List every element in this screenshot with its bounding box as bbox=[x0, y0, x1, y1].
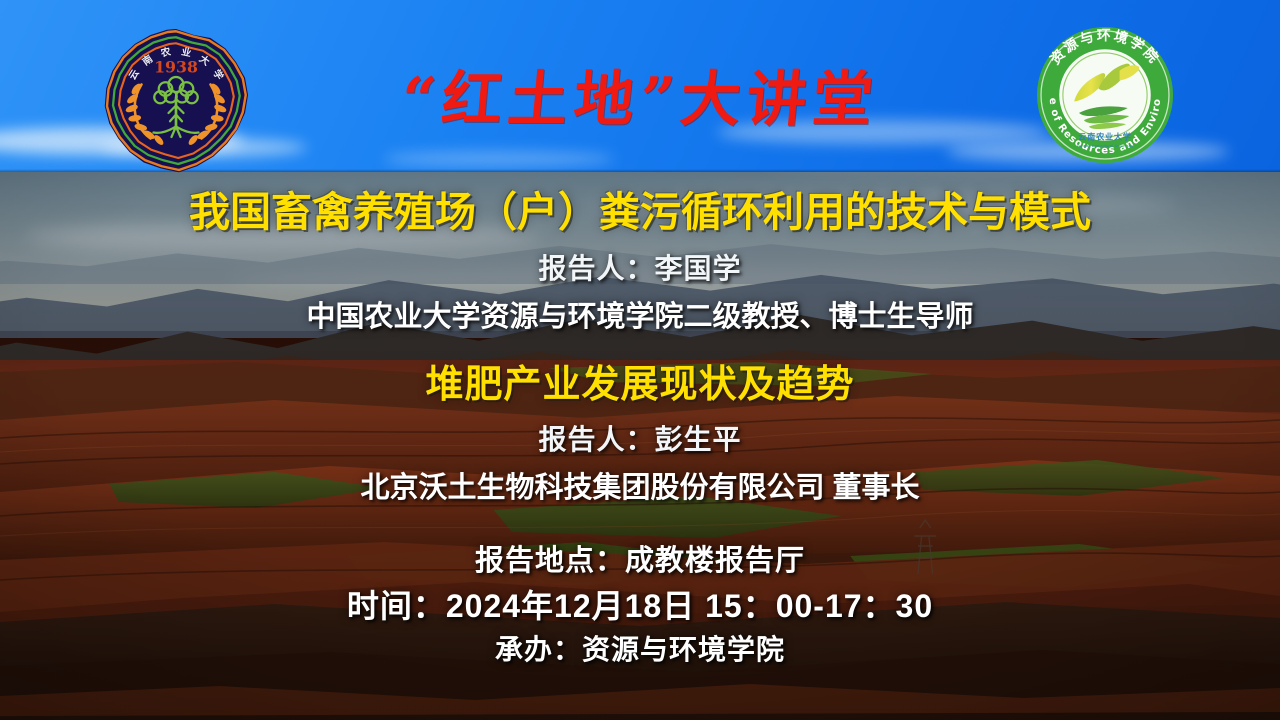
lecture-1-speaker: 报告人：李国学 bbox=[0, 255, 1280, 283]
lecture-2-affiliation: 北京沃土生物科技集团股份有限公司 董事长 bbox=[0, 474, 1280, 503]
lecture-1-title: 我国畜禽养殖场（户）粪污循环利用的技术与模式 bbox=[0, 192, 1280, 233]
series-title: “红土地”大讲堂 bbox=[0, 70, 1280, 130]
event-venue: 报告地点：成教楼报告厅 bbox=[0, 547, 1280, 576]
event-host: 承办：资源与环境学院 bbox=[0, 636, 1280, 664]
svg-text:云南农业大学: 云南农业大学 bbox=[1078, 132, 1131, 142]
lecture-poster: 1938 bbox=[0, 0, 1280, 720]
banner-cloud bbox=[384, 151, 614, 166]
event-time: 时间：2024年12月18日 15：00-17：30 bbox=[0, 590, 1280, 622]
lecture-1-affiliation: 中国农业大学资源与环境学院二级教授、博士生导师 bbox=[0, 303, 1280, 332]
poster-content: 我国畜禽养殖场（户）粪污循环利用的技术与模式 报告人：李国学 中国农业大学资源与… bbox=[0, 172, 1280, 664]
lecture-2-speaker: 报告人：彭生平 bbox=[0, 426, 1280, 454]
lecture-2-title: 堆肥产业发展现状及趋势 bbox=[0, 366, 1280, 404]
svg-text:Yunnan Agricultural University: Yunnan Agricultural University bbox=[1077, 144, 1134, 148]
